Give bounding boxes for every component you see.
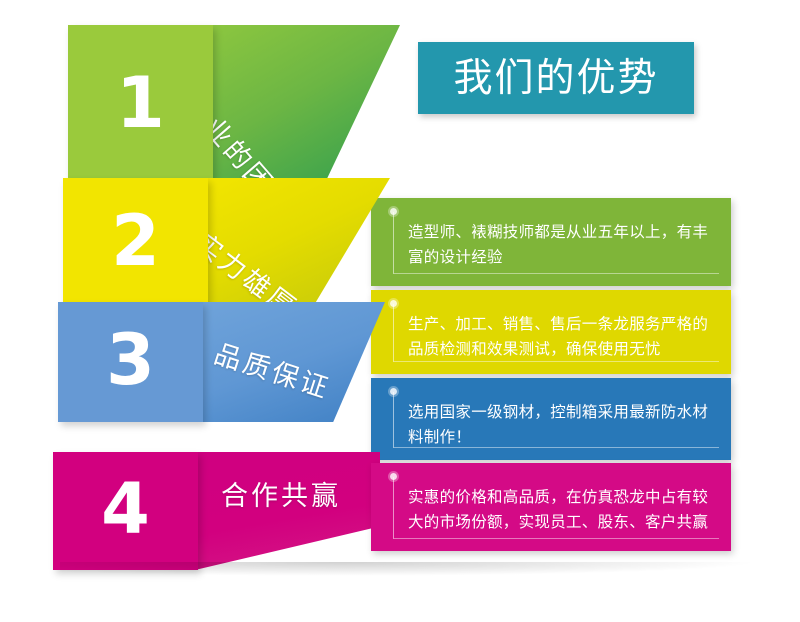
row-3-panel: 选用国家一级钢材，控制箱采用最新防水材料制作！ (371, 378, 731, 460)
row-2-panel: 生产、加工、销售、售后一条龙服务严格的品质检测和效果测试，确保使用无忧 (371, 290, 731, 374)
row-1-bullet-dot (390, 208, 397, 215)
row-1-number-block: 1 (68, 25, 213, 185)
row-1-rule (394, 273, 719, 274)
infographic-canvas: 我们的优势 专业的团队 1 造型师、裱糊技师都是从业五年以上，有丰富的设计经验 … (0, 0, 800, 622)
row-4-bullet-dot (390, 473, 397, 480)
row-4-panel: 实惠的价格和高品质，在仿真恐龙中占有较大的市场份额，实现员工、股东、客户共赢 (371, 463, 731, 551)
row-1-panel-inner: 造型师、裱糊技师都是从业五年以上，有丰富的设计经验 (393, 212, 713, 274)
row-2-bullet-dot (390, 300, 397, 307)
row-2-panel-inner: 生产、加工、销售、售后一条龙服务严格的品质检测和效果测试，确保使用无忧 (393, 304, 713, 362)
row-3-panel-inner: 选用国家一级钢材，控制箱采用最新防水材料制作！ (393, 392, 713, 448)
row-3-wedge: 品质保证 (200, 302, 385, 422)
row-1-panel: 造型师、裱糊技师都是从业五年以上，有丰富的设计经验 (371, 198, 731, 286)
row-4-wedge: 合作共赢 (195, 452, 380, 570)
row-4-number-block: 4 (53, 452, 198, 570)
row-3-number: 3 (106, 325, 155, 395)
row-3-panel-text: 选用国家一级钢材，控制箱采用最新防水材料制作！ (408, 400, 709, 450)
base-shadow (60, 562, 760, 576)
row-4-rule (394, 538, 719, 539)
page-title: 我们的优势 (453, 59, 658, 98)
row-4-panel-text: 实惠的价格和高品质，在仿真恐龙中占有较大的市场份额，实现员工、股东、客户共赢 (408, 485, 709, 535)
row-4-panel-inner: 实惠的价格和高品质，在仿真恐龙中占有较大的市场份额，实现员工、股东、客户共赢 (393, 477, 713, 539)
row-2-wedge: 实力雄厚 (205, 178, 390, 308)
row-1-number: 1 (116, 68, 165, 138)
row-4-number: 4 (101, 474, 150, 544)
row-4-label: 合作共赢 (221, 474, 341, 513)
row-3-number-block: 3 (58, 302, 203, 422)
row-1-panel-text: 造型师、裱糊技师都是从业五年以上，有丰富的设计经验 (408, 220, 709, 270)
row-1-wedge: 专业的团队 (210, 25, 400, 185)
title-banner: 我们的优势 (418, 42, 694, 114)
row-2-number: 2 (111, 206, 160, 276)
row-2-panel-text: 生产、加工、销售、售后一条龙服务严格的品质检测和效果测试，确保使用无忧 (408, 312, 709, 362)
row-2-number-block: 2 (63, 178, 208, 308)
row-3-bullet-dot (390, 388, 397, 395)
